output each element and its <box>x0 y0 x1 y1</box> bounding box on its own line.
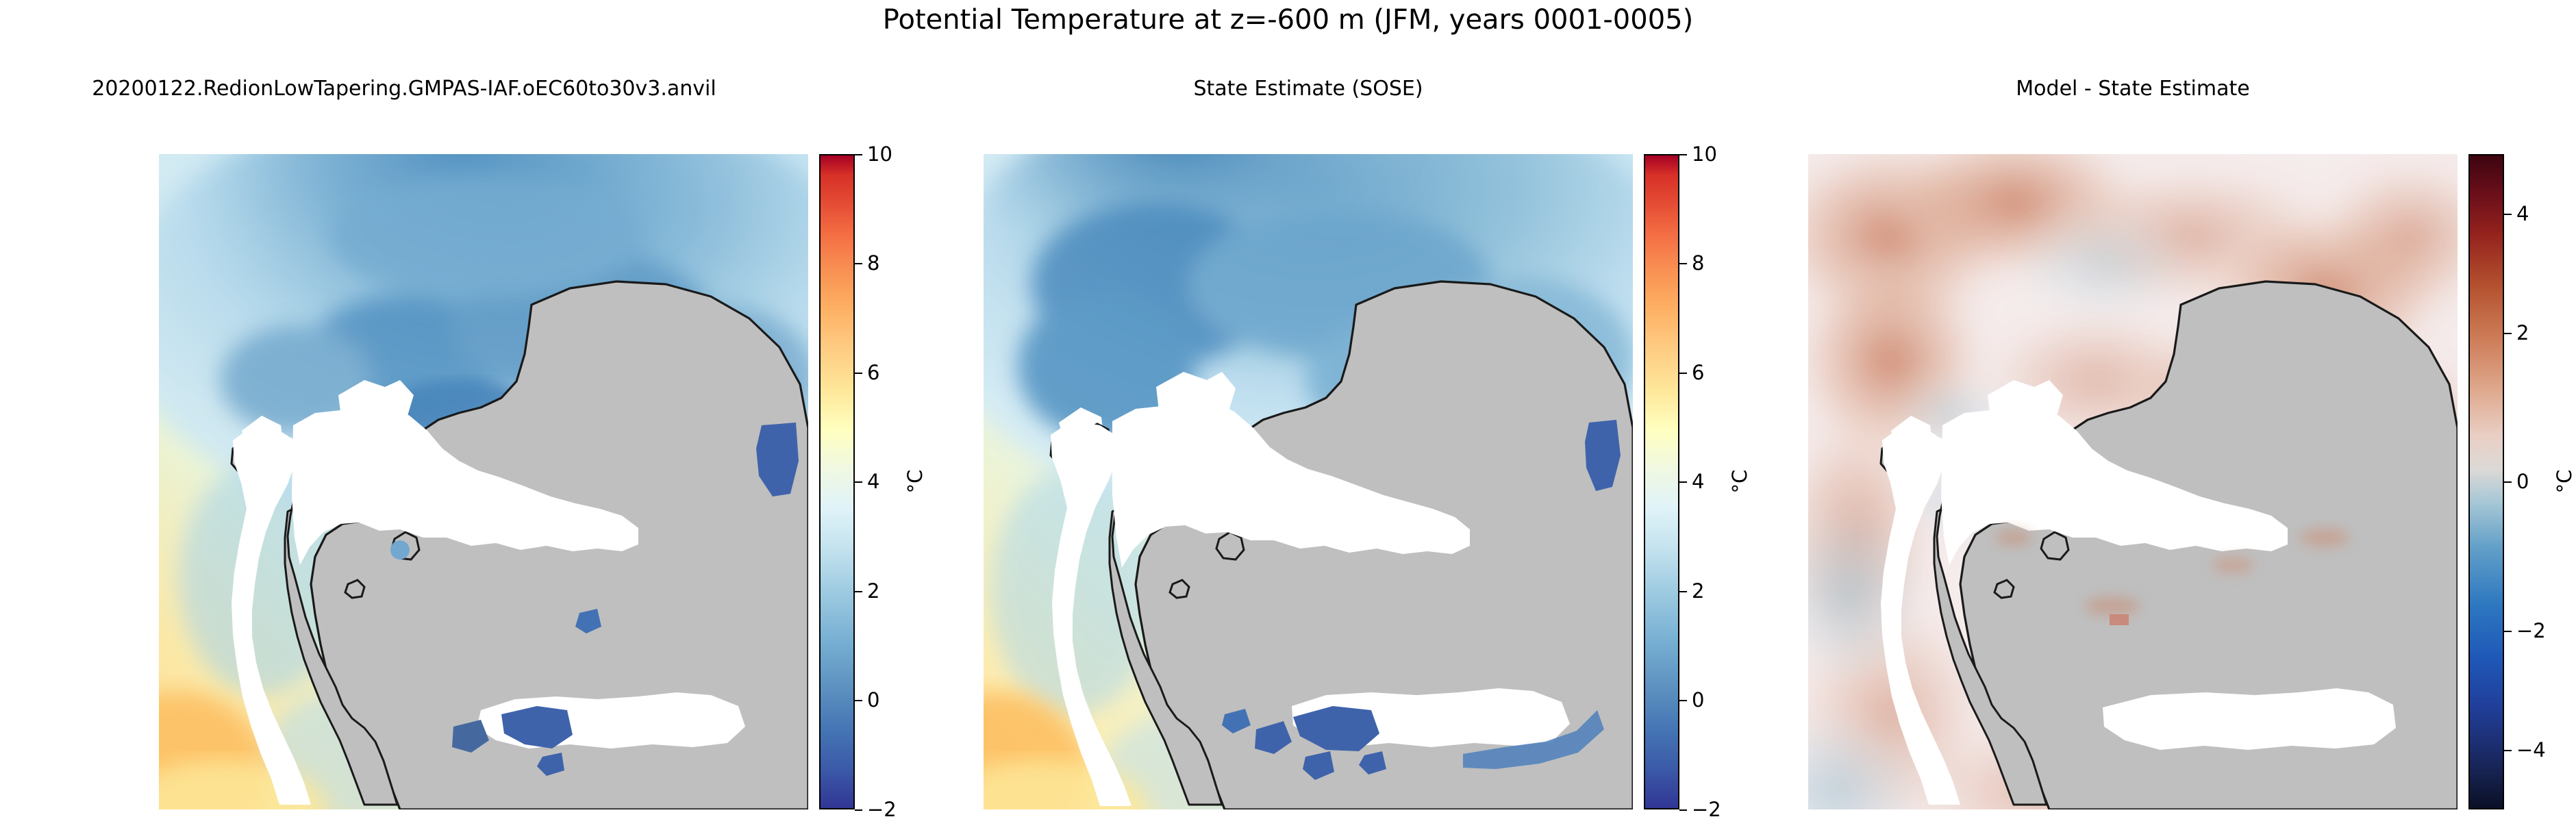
colorbar-state-estimate-label-4: 4 <box>1692 470 1704 493</box>
colorbar-model-tick-2 <box>855 591 862 592</box>
colorbar-state-estimate-label-neg2: −2 <box>1692 798 1721 821</box>
colorbar-model-label-4: 4 <box>867 470 879 493</box>
colorbar-difference-unit: °C <box>2553 470 2576 494</box>
panel-title-difference: Model - State Estimate <box>1808 77 2458 101</box>
colorbar-state-estimate-label-2: 2 <box>1692 579 1704 603</box>
colorbar-state-estimate-label-6: 6 <box>1692 361 1704 384</box>
colorbar-state-estimate-unit: °C <box>1728 470 1751 494</box>
state-estimate-map-raster <box>984 154 1633 809</box>
colorbar-model-tick-0 <box>855 700 862 701</box>
colorbar-difference-tick-4 <box>2504 214 2512 215</box>
colorbar-model-tick-6 <box>855 373 862 374</box>
colorbar-state-estimate-tick-0 <box>1679 700 1687 701</box>
panel-title-state-estimate: State Estimate (SOSE) <box>984 77 1633 101</box>
colorbar-model-tick-4 <box>855 481 862 483</box>
colorbar-state-estimate-label-8: 8 <box>1692 251 1704 275</box>
colorbar-model-label-0: 0 <box>867 688 879 712</box>
colorbar-model-tick-10 <box>855 154 862 155</box>
colorbar-state-estimate-label-0: 0 <box>1692 688 1704 712</box>
colorbar-model-label-10: 10 <box>867 142 892 166</box>
colorbar-state-estimate-tick-6 <box>1679 373 1687 374</box>
colorbar-difference-gradient <box>2468 154 2504 809</box>
colorbar-difference-label-2: 2 <box>2516 321 2529 344</box>
colorbar-model-unit: °C <box>903 470 927 494</box>
colorbar-state-estimate-tick-8 <box>1679 263 1687 264</box>
colorbar-state-estimate-tick-2 <box>1679 591 1687 592</box>
colorbar-state-estimate-tick-4 <box>1679 481 1687 483</box>
colorbar-model-label-8: 8 <box>867 251 879 275</box>
colorbar-difference-label-4: 4 <box>2516 202 2529 225</box>
map-panel-model[interactable] <box>159 154 808 809</box>
colorbar-state-estimate-tick-10 <box>1679 154 1687 155</box>
colorbar-difference-tick-neg4 <box>2504 750 2512 751</box>
colorbar-model-gradient <box>819 154 855 809</box>
colorbar-difference-label-0: 0 <box>2516 470 2529 493</box>
colorbar-state-estimate-gradient <box>1644 154 1679 809</box>
colorbar-model-tick-8 <box>855 263 862 264</box>
colorbar-model-label-2: 2 <box>867 579 879 603</box>
colorbar-model-label-6: 6 <box>867 361 879 384</box>
colorbar-difference-label-neg2: −2 <box>2516 619 2546 642</box>
colorbar-difference-label-neg4: −4 <box>2516 738 2546 762</box>
colorbar-difference-tick-2 <box>2504 333 2512 334</box>
colorbar-model-tick-neg2 <box>855 809 862 811</box>
colorbar-difference-tick-0 <box>2504 481 2512 483</box>
colorbar-model-label-neg2: −2 <box>867 798 897 821</box>
map-panel-difference[interactable] <box>1808 154 2458 809</box>
difference-map-raster <box>1808 154 2458 809</box>
colorbar-difference-tick-neg2 <box>2504 631 2512 632</box>
model-map-raster <box>159 154 808 809</box>
figure-title: Potential Temperature at z=-600 m (JFM, … <box>0 4 2576 36</box>
panel-title-model: 20200122.RedionLowTapering.GMPAS-IAF.oEC… <box>0 77 808 101</box>
map-panel-state-estimate[interactable] <box>984 154 1633 809</box>
colorbar-state-estimate-tick-neg2 <box>1679 809 1687 811</box>
figure-canvas: Potential Temperature at z=-600 m (JFM, … <box>0 0 2576 830</box>
colorbar-state-estimate-label-10: 10 <box>1692 142 1717 166</box>
